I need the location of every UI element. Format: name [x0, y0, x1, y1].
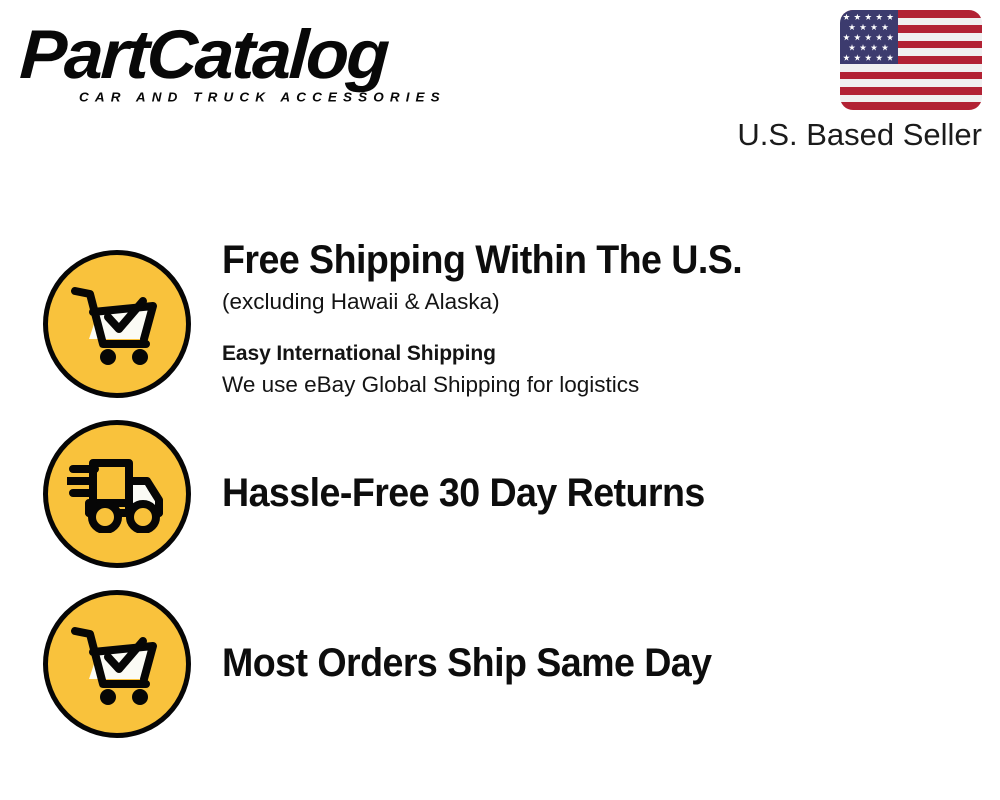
- us-flag-icon: [840, 10, 982, 110]
- flag-star: [876, 14, 883, 21]
- flag-star-row: [840, 12, 898, 22]
- flag-star: [882, 44, 889, 51]
- flag-star: [843, 34, 850, 41]
- flag-stripe: [840, 64, 982, 72]
- flag-star: [854, 34, 861, 41]
- feature-note: (excluding Hawaii & Alaska): [222, 287, 982, 317]
- feature-text-block: Most Orders Ship Same Day: [222, 640, 982, 686]
- shopping-cart-check-icon: [43, 590, 191, 738]
- flag-stripe: [840, 102, 982, 110]
- flag-stripe: [840, 87, 982, 95]
- flag-star: [887, 54, 894, 61]
- feature-title: Most Orders Ship Same Day: [222, 640, 936, 686]
- feature-subtext: We use eBay Global Shipping for logistic…: [222, 370, 982, 400]
- flag-star-row: [840, 43, 898, 53]
- flag-star: [843, 54, 850, 61]
- flag-star: [860, 24, 867, 31]
- flag-star: [871, 24, 878, 31]
- flag-star: [871, 44, 878, 51]
- brand-logo[interactable]: PartCatalog CAR AND TRUCK ACCESSORIES: [22, 20, 492, 115]
- feature-title: Free Shipping Within The U.S.: [222, 237, 936, 283]
- flag-canton: [840, 10, 898, 64]
- flag-stripe: [840, 79, 982, 87]
- flag-star: [865, 34, 872, 41]
- flag-star: [849, 24, 856, 31]
- flag-star: [865, 54, 872, 61]
- flag-star: [849, 44, 856, 51]
- delivery-truck-icon: [43, 420, 191, 568]
- flag-stripe: [840, 95, 982, 103]
- flag-stripe: [840, 72, 982, 80]
- flag-star: [876, 54, 883, 61]
- flag-star: [865, 14, 872, 21]
- flag-star: [854, 54, 861, 61]
- feature-title: Hassle-Free 30 Day Returns: [222, 470, 936, 516]
- flag-star-row: [840, 22, 898, 32]
- flag-star: [843, 14, 850, 21]
- us-based-seller-label: U.S. Based Seller: [737, 118, 982, 152]
- flag-star: [887, 14, 894, 21]
- page-header: PartCatalog CAR AND TRUCK ACCESSORIES: [0, 0, 1000, 170]
- brand-wordmark: PartCatalog: [18, 20, 501, 90]
- flag-star: [860, 44, 867, 51]
- feature-text-block: Free Shipping Within The U.S. (excluding…: [222, 237, 982, 400]
- flag-star: [854, 14, 861, 21]
- flag-star-row: [840, 53, 898, 63]
- shopping-cart-check-icon: [43, 250, 191, 398]
- feature-text-block: Hassle-Free 30 Day Returns: [222, 470, 982, 516]
- feature-subtitle: Easy International Shipping: [222, 339, 982, 369]
- flag-star-row: [840, 32, 898, 42]
- brand-tagline: CAR AND TRUCK ACCESSORIES: [79, 90, 446, 104]
- flag-star: [876, 34, 883, 41]
- flag-star: [887, 34, 894, 41]
- flag-star: [882, 24, 889, 31]
